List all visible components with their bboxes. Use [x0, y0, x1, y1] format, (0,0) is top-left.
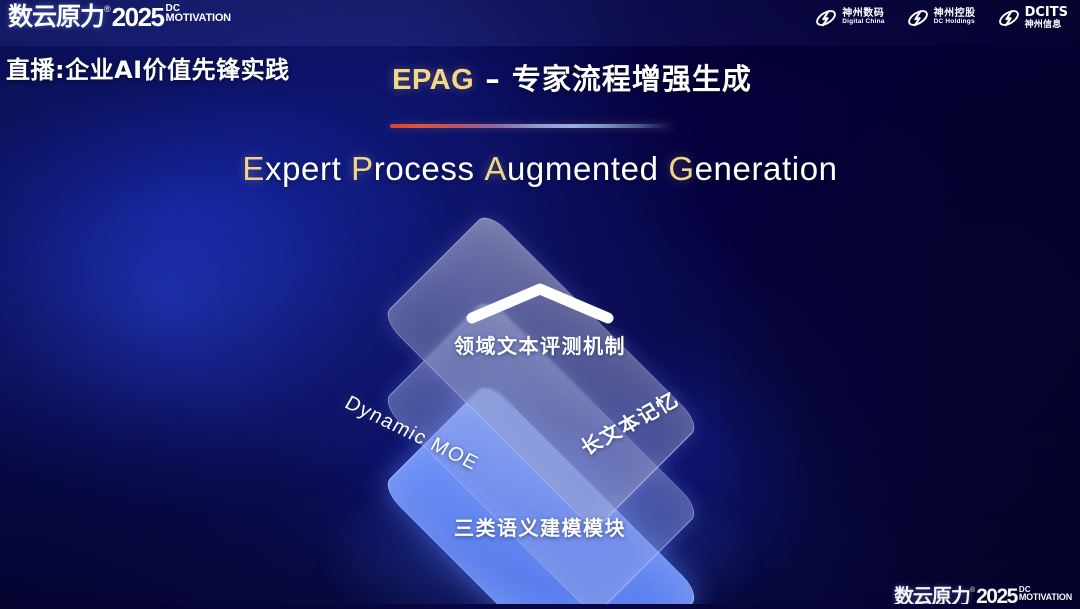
layer-label-top: 领域文本评测机制: [286, 330, 794, 359]
subtitle-cap-g: G: [668, 150, 694, 187]
page-title: EPAG – 专家流程增强生成: [0, 56, 1080, 98]
subtitle-word-process: rocess: [374, 150, 475, 187]
layer-stack-diagram: 领域文本评测机制 Dynamic MOE 长文本记忆 三类语义建模模块: [286, 224, 794, 584]
brand-logo: 数云原力 ® 2025 DC MOTIVATION: [8, 4, 231, 30]
brand-year: 2025: [112, 4, 164, 30]
watermark-brand-cn: 数云原力: [894, 586, 970, 606]
partner-name-en: 神州信息: [1025, 20, 1068, 29]
subtitle-cap-e: E: [242, 150, 265, 187]
partner-name-en: DC Holdings: [934, 19, 976, 26]
brand-dc-motivation: DC MOTIVATION: [166, 4, 231, 23]
subtitle-cap-a: A: [484, 150, 507, 187]
swirl-logo-icon: [998, 7, 1020, 29]
swirl-logo-icon: [815, 7, 837, 29]
subtitle-cap-p: P: [351, 150, 374, 187]
registered-mark-icon: ®: [104, 5, 111, 14]
page-title-accent: EPAG: [392, 64, 474, 96]
partner-logo-dc-holdings: 神州控股 DC Holdings: [907, 7, 976, 29]
subtitle-word-expert: xpert: [265, 150, 341, 187]
swirl-logo-icon: [907, 7, 929, 29]
partner-label-dc-holdings: 神州控股 DC Holdings: [934, 9, 976, 26]
partner-logo-group: 神州数码 Digital China 神州控股 DC Holdings: [815, 6, 1068, 29]
subtitle: Expert Process Augmented Generation: [0, 150, 1080, 188]
brand-name-cn: 数云原力: [8, 4, 104, 29]
bottom-edge-line: [0, 604, 1080, 609]
page-title-rest: – 专家流程增强生成: [474, 62, 752, 96]
watermark-dc-line2: MOTIVATION: [1019, 593, 1072, 601]
partner-name-cn: DCITS: [1025, 6, 1068, 20]
partner-logo-dcits: DCITS 神州信息: [998, 6, 1068, 29]
layer-label-bottom: 三类语义建模模块: [286, 512, 794, 541]
presentation-slide: 数云原力 ® 2025 DC MOTIVATION 直播:企业AI价值先锋实践 …: [0, 0, 1080, 609]
partner-name-en: Digital China: [842, 19, 884, 26]
partner-logo-digital-china: 神州数码 Digital China: [815, 7, 884, 29]
partner-label-digital-china: 神州数码 Digital China: [842, 9, 884, 26]
watermark-registered-icon: ®: [970, 587, 975, 594]
title-divider: [390, 124, 673, 128]
subtitle-word-augmented: ugmented: [507, 150, 659, 187]
brand-dc-line2: MOTIVATION: [166, 13, 231, 23]
chevron-up-icon: [462, 280, 618, 326]
partner-label-dcits: DCITS 神州信息: [1025, 6, 1068, 29]
subtitle-word-generation: eneration: [695, 150, 838, 187]
watermark-dc-motivation: DC MOTIVATION: [1019, 586, 1072, 602]
